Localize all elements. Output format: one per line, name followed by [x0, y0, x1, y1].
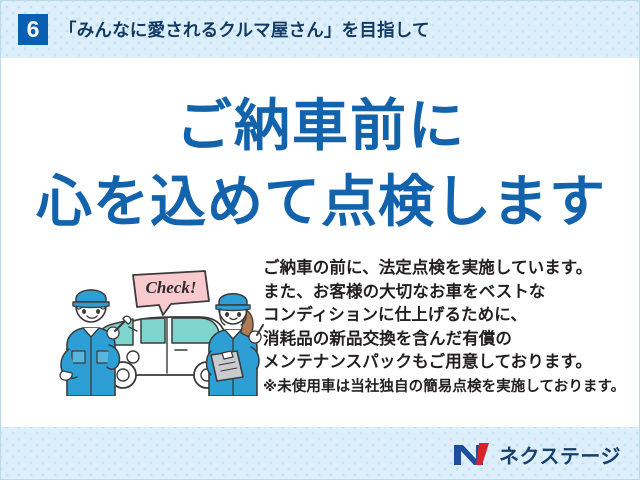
headline-line-1: ご納車前に [1, 88, 640, 164]
header: 6 「みんなに愛されるクルマ屋さん」を目指して [1, 1, 640, 58]
body-note: ※未使用車は当社独自の簡易点検を実施しております。 [263, 376, 623, 398]
body-line-5: メンテナンスパックもご用意しております。 [263, 351, 623, 375]
mechanic-female [207, 294, 264, 396]
check-bubble-label: Check! [146, 278, 197, 297]
body-line-1: ご納車の前に、法定点検を実施しています。 [263, 257, 623, 281]
content-panel: ご納車前に 心を込めて点検します [1, 58, 640, 427]
section-number-badge: 6 [18, 14, 48, 45]
body-line-3: コンディションに仕上げるために、 [263, 304, 623, 328]
headline-line-2: 心を込めて点検します [1, 164, 640, 240]
body-line-4: 消耗品の新品交換を含んだ有償の [263, 328, 623, 352]
advertisement-banner: 6 「みんなに愛されるクルマ屋さん」を目指して ご納車前に 心を込めて点検します [0, 0, 640, 480]
headline: ご納車前に 心を込めて点検します [1, 88, 640, 240]
nextage-n-mark [452, 441, 492, 467]
footer: ネクステージ [1, 427, 640, 480]
mechanics-illustration: Check! [59, 261, 264, 396]
header-title: 「みんなに愛されるクルマ屋さん」を目指して [59, 17, 430, 42]
brand-name: ネクステージ [499, 440, 621, 469]
body-copy: ご納車の前に、法定点検を実施しています。 また、お客様の大切なお車をベストな コ… [263, 257, 623, 398]
brand-logo: ネクステージ [452, 440, 621, 469]
body-line-2: また、お客様の大切なお車をベストな [263, 281, 623, 305]
